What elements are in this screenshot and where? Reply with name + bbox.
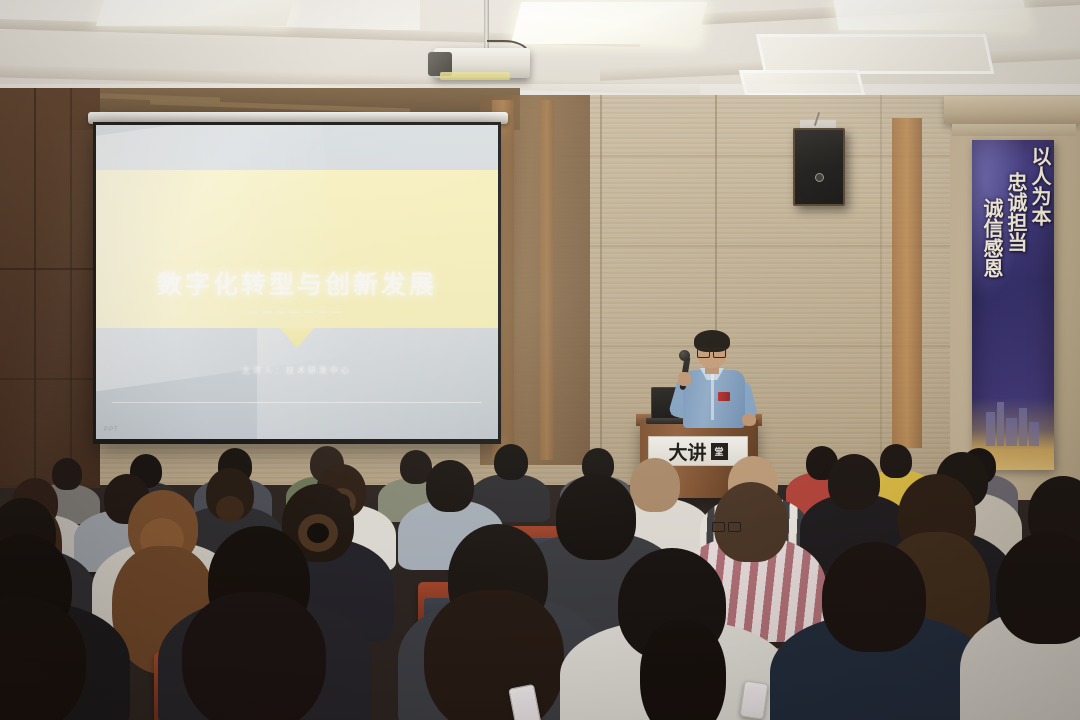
speaker-logo-icon bbox=[815, 173, 824, 182]
ceiling-light-panel bbox=[511, 2, 707, 44]
podium-seal-icon: 堂 bbox=[711, 443, 728, 460]
pilaster-cornice bbox=[944, 96, 1080, 124]
slide-footer: 主讲人：技术研发中心 bbox=[96, 365, 498, 376]
projection-screen: 数字化转型与创新发展 ——————— 主讲人：技术研发中心 PPT bbox=[93, 122, 501, 444]
podium-sign-text: 大讲 bbox=[668, 438, 706, 465]
ceiling-light-panel bbox=[96, 0, 294, 26]
phone-screen[interactable] bbox=[512, 689, 538, 720]
wall-speaker bbox=[793, 128, 845, 206]
smartphone-white[interactable] bbox=[740, 681, 769, 720]
projector-light-spill bbox=[440, 72, 510, 80]
shirt-logo-icon bbox=[718, 392, 730, 401]
vertical-wall-banner: 以人为本 忠诚担当 诚信感恩 bbox=[972, 140, 1054, 470]
phone-screen[interactable] bbox=[743, 686, 764, 713]
slide-subtitle: ——————— bbox=[96, 307, 498, 318]
slide-watermark: PPT bbox=[104, 427, 119, 433]
banner-column-3: 诚信感恩 bbox=[976, 198, 1002, 278]
wood-slat-trim bbox=[892, 118, 922, 448]
slide-title: 数字化转型与创新发展 bbox=[96, 265, 498, 301]
ceiling-light-panel bbox=[833, 0, 1028, 30]
wood-slat-trim bbox=[540, 100, 554, 460]
ceiling-light-panel bbox=[756, 34, 995, 74]
conference-hall-photo: 数字化转型与创新发展 ——————— 主讲人：技术研发中心 PPT 以人为本 忠… bbox=[0, 0, 1080, 720]
eyeglasses-icon bbox=[697, 348, 726, 356]
wood-wall-panel-left-shade bbox=[0, 88, 100, 488]
seated-audience bbox=[0, 470, 1080, 720]
pilaster-cornice-lower bbox=[952, 124, 1076, 136]
